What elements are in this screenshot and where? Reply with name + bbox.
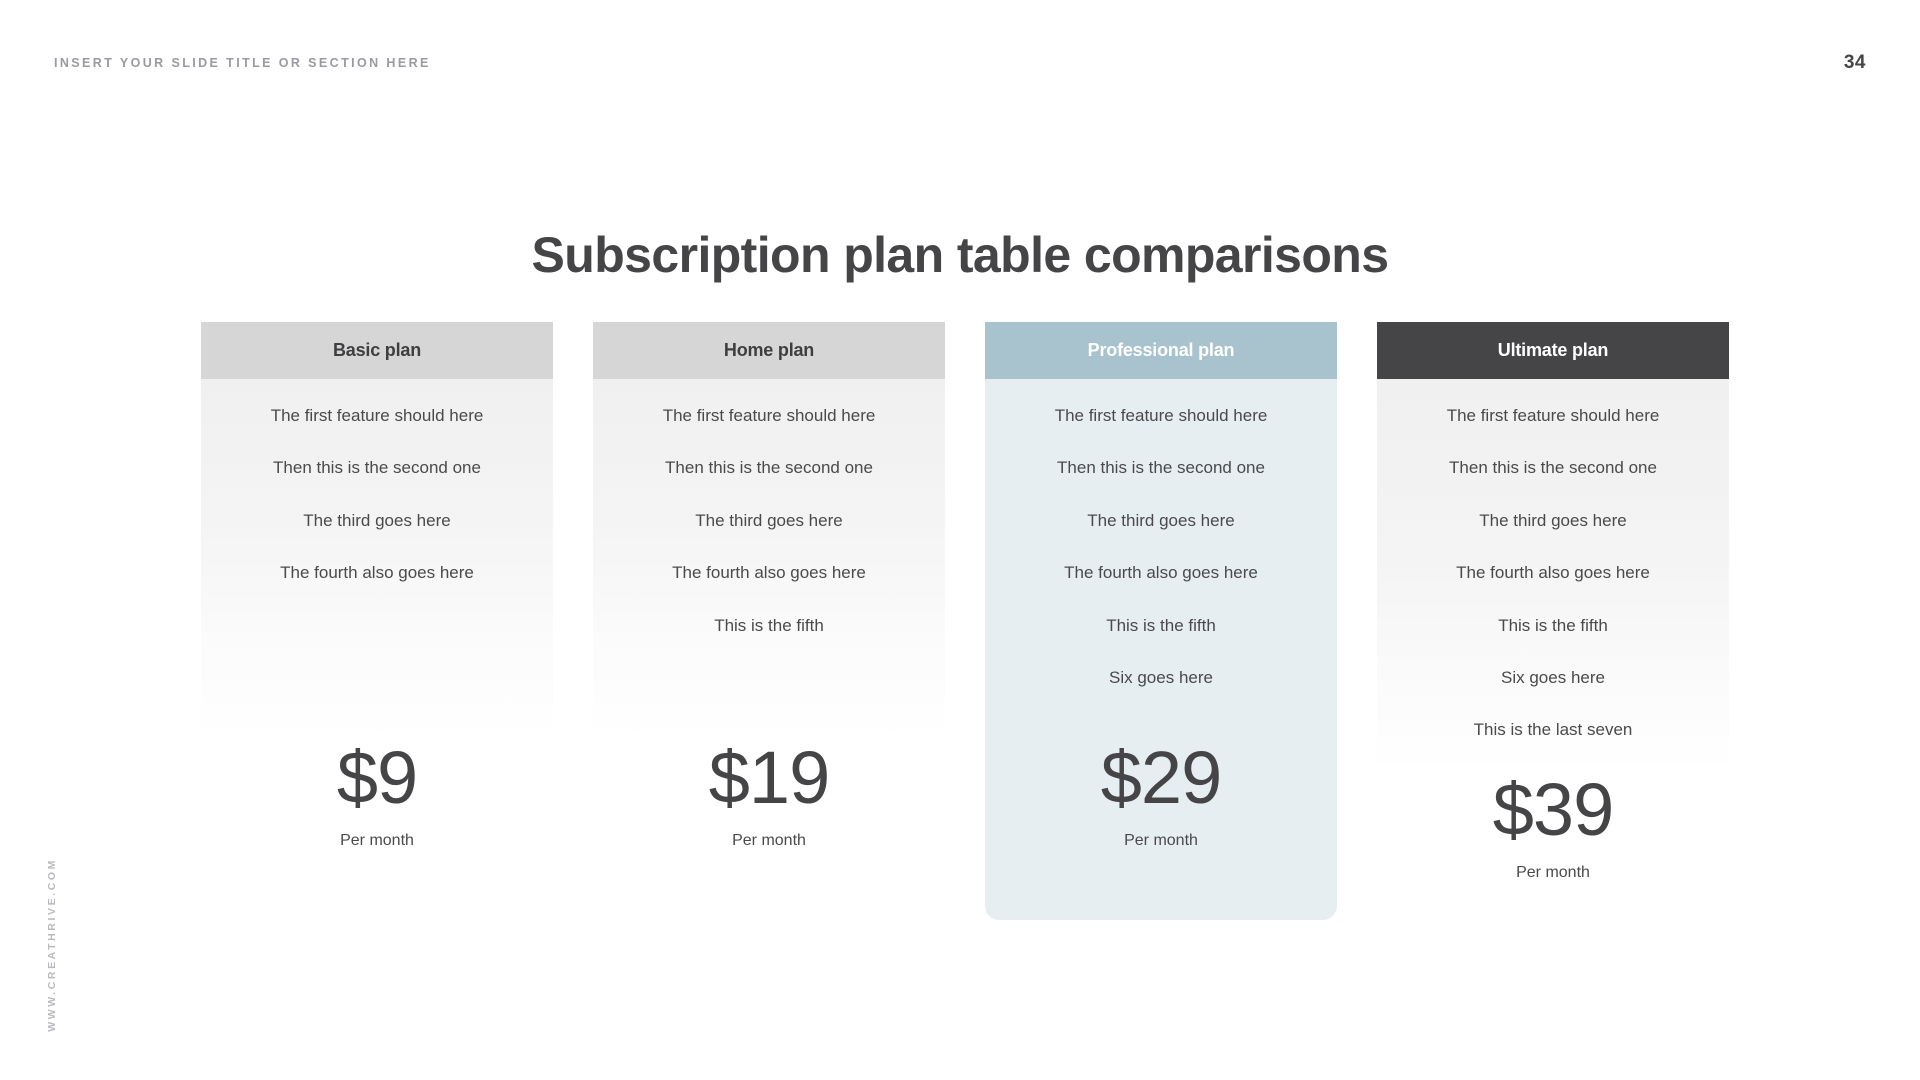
price-period-label: Per month [340,832,414,850]
page-title: Subscription plan table comparisons [0,226,1920,284]
feature-item: Then this is the second one [1449,458,1657,478]
feature-item: This is the last seven [1474,720,1633,740]
feature-item: The first feature should here [1055,406,1268,426]
feature-item: The third goes here [303,511,450,531]
feature-list: The first feature should hereThen this i… [593,379,945,741]
feature-item: Then this is the second one [665,458,873,478]
slide-section-eyebrow: INSERT YOUR SLIDE TITLE OR SECTION HERE [54,56,431,70]
feature-item: The third goes here [1479,511,1626,531]
feature-list: The first feature should hereThen this i… [985,379,1337,741]
pricing-card[interactable]: Ultimate planThe first feature should he… [1377,322,1729,900]
pricing-card[interactable]: Home planThe first feature should hereTh… [593,322,945,868]
feature-item: Then this is the second one [1057,458,1265,478]
feature-item: The fourth also goes here [1456,563,1650,583]
price-period-label: Per month [1124,832,1198,850]
price-block: $29Per month [985,741,1337,868]
feature-item: Then this is the second one [273,458,481,478]
feature-item: The fourth also goes here [1064,563,1258,583]
price-block: $9Per month [201,741,553,868]
price-block: $39Per month [1377,773,1729,900]
feature-item: This is the fifth [1106,616,1216,636]
plan-name: Ultimate plan [1377,322,1729,379]
feature-item: The fourth also goes here [672,563,866,583]
feature-item: This is the fifth [714,616,824,636]
pricing-card[interactable]: Professional planThe first feature shoul… [985,322,1337,920]
plan-price: $9 [337,741,417,815]
feature-item: The first feature should here [1447,406,1660,426]
pricing-card[interactable]: Basic planThe first feature should hereT… [201,322,553,868]
feature-item: This is the fifth [1498,616,1608,636]
pricing-cards-container: Basic planThe first feature should hereT… [201,322,1729,920]
price-block: $19Per month [593,741,945,868]
page-number: 34 [1844,52,1866,74]
price-period-label: Per month [732,832,806,850]
feature-item: Six goes here [1501,668,1605,688]
plan-price: $19 [709,741,829,815]
feature-item: Six goes here [1109,668,1213,688]
feature-list: The first feature should hereThen this i… [1377,379,1729,773]
website-vertical-tag: WWW.CREATHRIVE.COM [46,858,58,1032]
slide-header: INSERT YOUR SLIDE TITLE OR SECTION HERE … [54,50,1866,76]
feature-item: The third goes here [1087,511,1234,531]
feature-item: The third goes here [695,511,842,531]
plan-name: Home plan [593,322,945,379]
feature-list: The first feature should hereThen this i… [201,379,553,741]
plan-price: $29 [1101,741,1221,815]
price-period-label: Per month [1516,864,1590,882]
feature-item: The fourth also goes here [280,563,474,583]
feature-item: The first feature should here [663,406,876,426]
feature-item: The first feature should here [271,406,484,426]
plan-name: Professional plan [985,322,1337,379]
plan-price: $39 [1493,773,1613,847]
plan-name: Basic plan [201,322,553,379]
